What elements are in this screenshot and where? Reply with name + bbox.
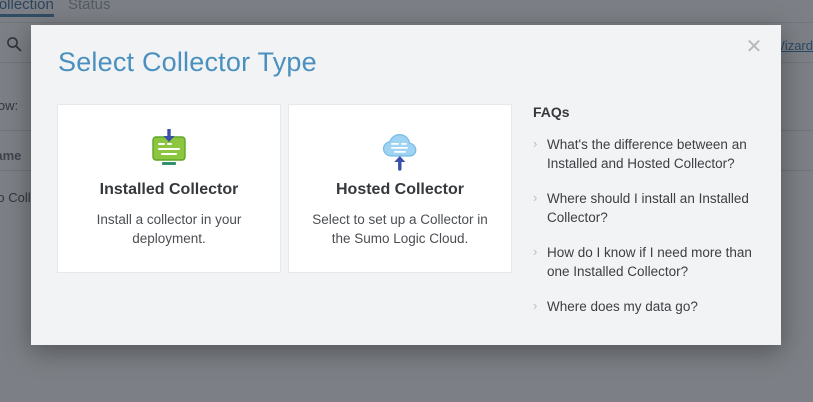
hosted-collector-title: Hosted Collector: [289, 181, 511, 199]
select-collector-type-dialog: Select Collector Type ✕ Installed Collec…: [31, 25, 781, 345]
faq-heading: FAQs: [533, 104, 765, 120]
faq-item[interactable]: › How do I know if I need more than one …: [533, 243, 765, 281]
faq-item[interactable]: › Where should I install an Installed Co…: [533, 189, 765, 227]
installed-collector-title: Installed Collector: [58, 181, 280, 199]
faq-item[interactable]: › Where does my data go?: [533, 297, 765, 316]
faq-panel: FAQs › What's the difference between an …: [533, 104, 765, 332]
installed-collector-monitor-icon: [58, 127, 280, 173]
chevron-right-icon: ›: [533, 134, 537, 153]
faq-item[interactable]: › What's the difference between an Insta…: [533, 135, 765, 173]
faq-item-label: Where should I install an Installed Coll…: [547, 191, 749, 225]
installed-collector-description: Install a collector in your deployment.: [78, 210, 260, 248]
installed-collector-card[interactable]: Installed Collector Install a collector …: [57, 104, 281, 273]
close-icon[interactable]: ✕: [741, 34, 767, 60]
faq-item-label: How do I know if I need more than one In…: [547, 245, 752, 279]
dialog-title: Select Collector Type: [58, 47, 317, 78]
chevron-right-icon: ›: [533, 296, 537, 315]
faq-item-label: What's the difference between an Install…: [547, 137, 747, 171]
chevron-right-icon: ›: [533, 188, 537, 207]
hosted-collector-description: Select to set up a Collector in the Sumo…: [309, 210, 491, 248]
chevron-right-icon: ›: [533, 242, 537, 261]
hosted-collector-cloud-icon: [289, 127, 511, 173]
hosted-collector-card[interactable]: Hosted Collector Select to set up a Coll…: [288, 104, 512, 273]
faq-item-label: Where does my data go?: [547, 299, 698, 314]
